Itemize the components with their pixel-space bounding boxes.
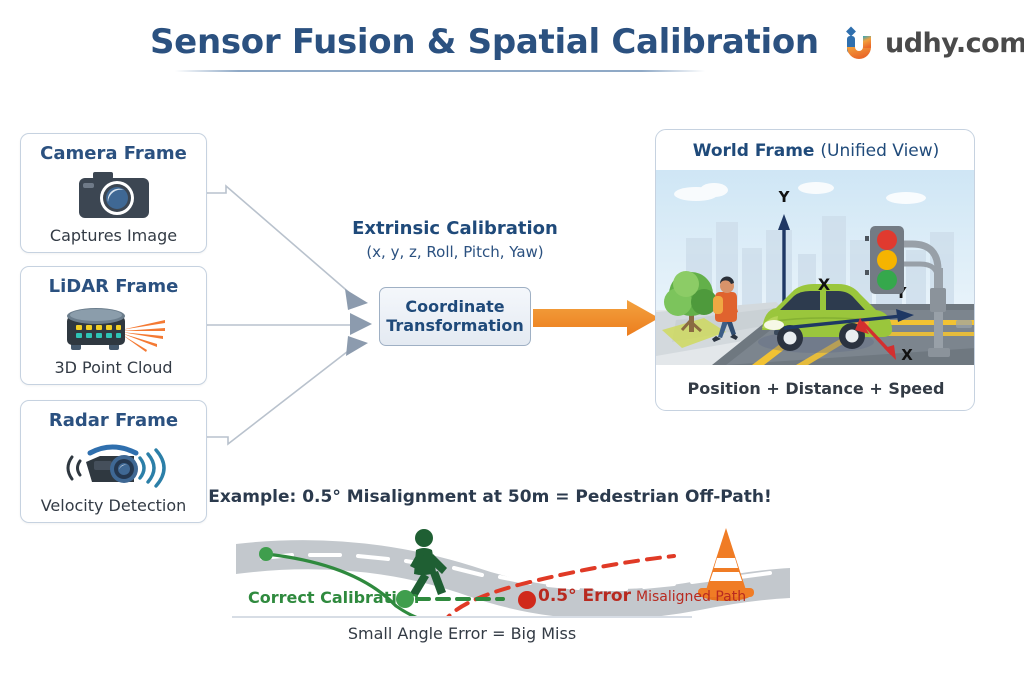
- legend-error-group: 0.5° Error Misaligned Path: [538, 586, 746, 606]
- legend-error-marker: [516, 589, 538, 611]
- world-frame-title: World Frame (Unified View): [656, 141, 975, 161]
- legend-error-small: Misaligned Path: [636, 589, 746, 605]
- axis-label-x-top: X: [818, 275, 831, 294]
- page-title: Sensor Fusion & Spatial Calibration: [150, 22, 730, 62]
- world-title-bold: World Frame: [693, 141, 821, 161]
- extrinsic-calibration-params: (x, y, z, Roll, Pitch, Yaw): [330, 243, 580, 261]
- sensor-card-camera[interactable]: Camera Frame Captures Image: [20, 133, 207, 253]
- axis-label-y-up: Y: [778, 188, 791, 206]
- card-title-radar: Radar Frame: [49, 410, 178, 431]
- legend-correct-label: Correct Calibration: [248, 588, 419, 607]
- bottom-divider: [232, 616, 692, 618]
- world-title-light: (Unified View): [820, 141, 939, 161]
- radar-icon: [54, 431, 174, 496]
- pedestrian-walking-icon: [410, 529, 447, 597]
- ct-line-1: Coordinate: [386, 298, 524, 316]
- world-frame-caption: Position + Distance + Speed: [656, 379, 975, 398]
- card-title-camera: Camera Frame: [40, 143, 187, 164]
- card-subtitle-camera: Captures Image: [50, 226, 177, 252]
- legend-error-big: 0.5° Error: [538, 586, 631, 606]
- title-underline: [175, 70, 705, 72]
- camera-icon: [77, 164, 151, 226]
- correct-path-start-dot: [259, 547, 273, 561]
- axis-label-x-diagonal: X: [901, 346, 913, 364]
- brand-logo[interactable]: udhy.com: [845, 22, 1024, 64]
- card-subtitle-radar: Velocity Detection: [41, 496, 187, 522]
- sensor-card-radar[interactable]: Radar Frame Veloci: [20, 400, 207, 523]
- legend-correct-marker: [395, 588, 515, 610]
- bottom-caption: Small Angle Error = Big Miss: [232, 624, 692, 643]
- world-frame-panel: World Frame (Unified View): [655, 129, 975, 411]
- example-headline: Example: 0.5° Misalignment at 50m = Pede…: [180, 487, 800, 507]
- extrinsic-calibration-title: Extrinsic Calibration: [340, 218, 570, 239]
- world-scene-illustration: Y X: [656, 170, 975, 365]
- card-title-lidar: LiDAR Frame: [49, 276, 179, 297]
- infographic-page: Sensor Fusion & Spatial Calibration udhy…: [0, 0, 1024, 683]
- sensor-card-lidar[interactable]: LiDAR Frame: [20, 266, 207, 385]
- udhy-u-logo-icon: [845, 23, 879, 63]
- coordinate-transformation-box[interactable]: Coordinate Transformation: [379, 287, 531, 346]
- orange-right-arrow-icon: [533, 298, 661, 338]
- card-subtitle-lidar: 3D Point Cloud: [54, 358, 172, 384]
- ct-line-2: Transformation: [386, 317, 524, 335]
- logo-text: udhy.com: [885, 28, 1024, 59]
- lidar-puck-icon: [59, 297, 169, 358]
